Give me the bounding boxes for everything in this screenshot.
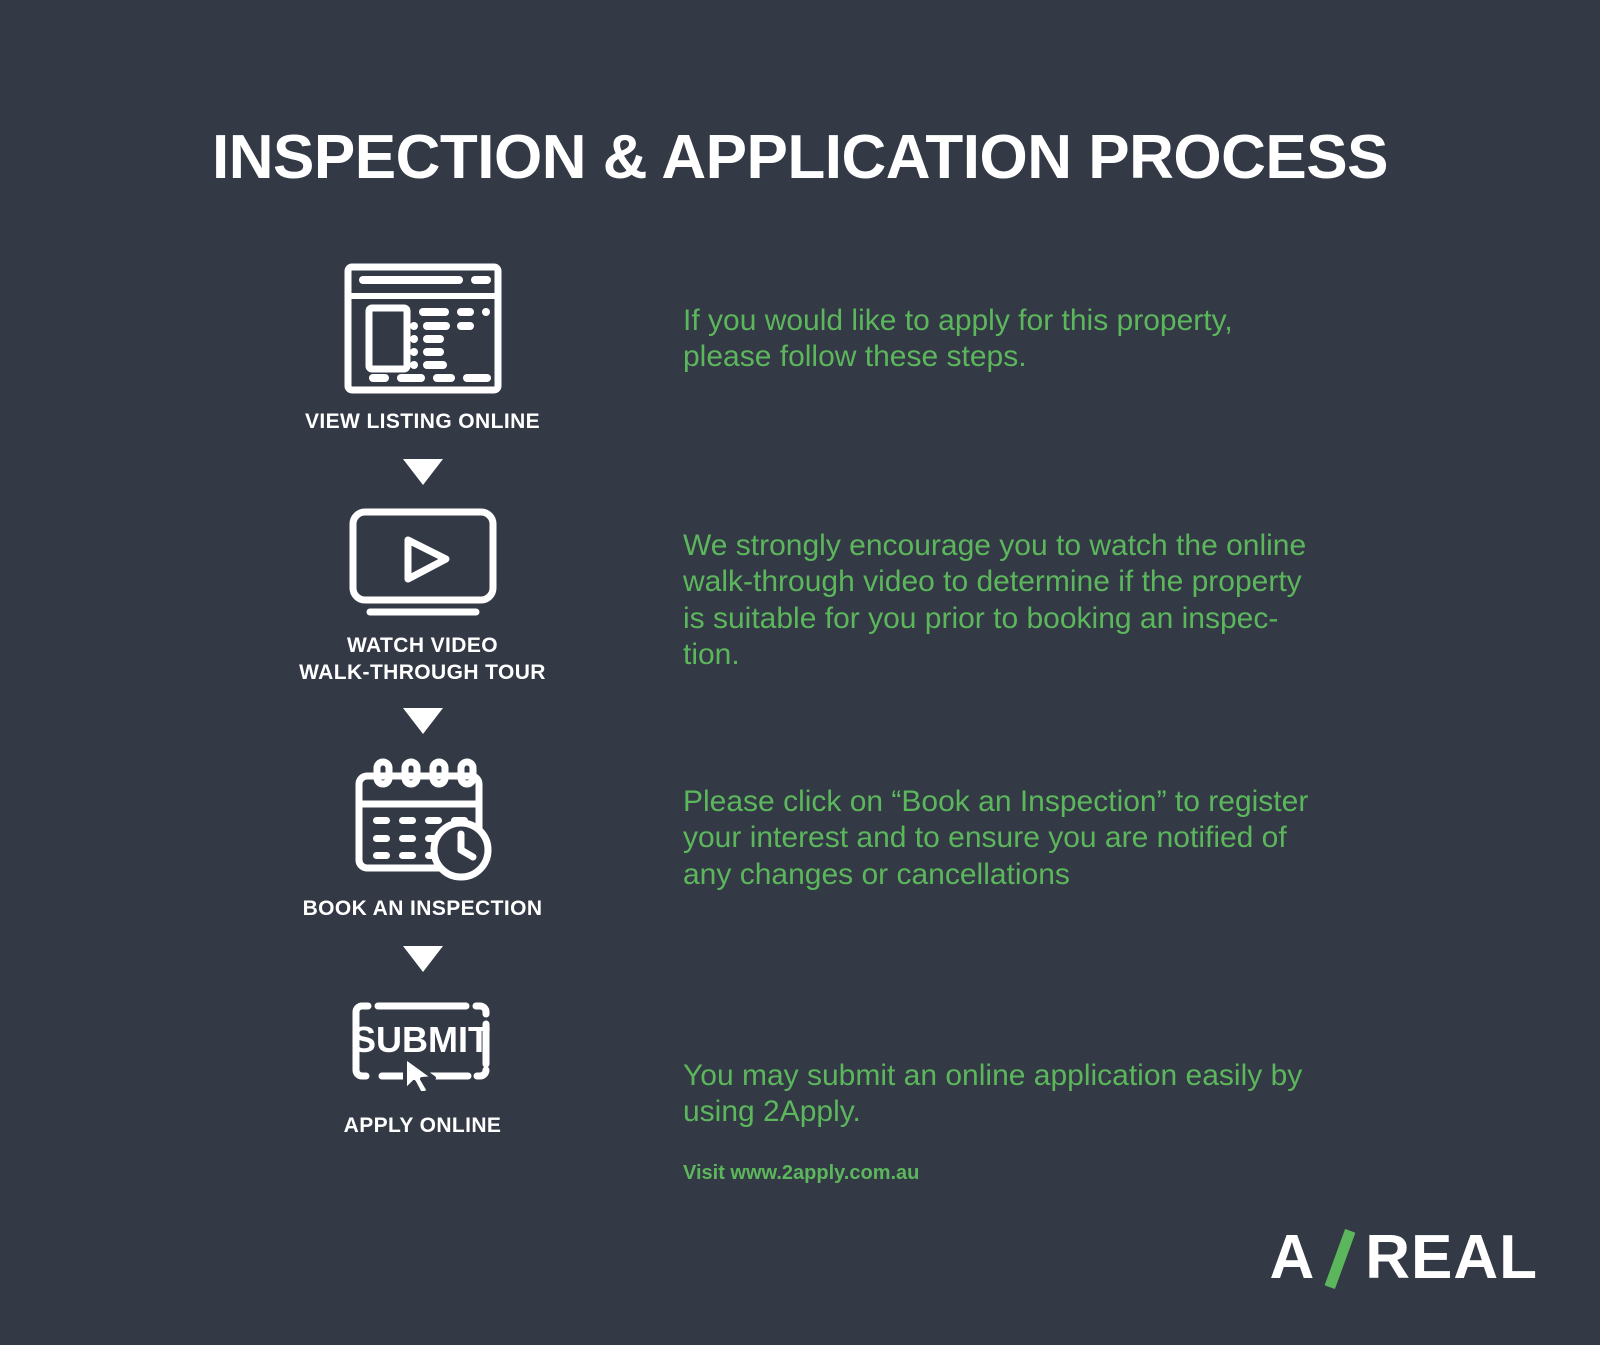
- copy-line: is suitable for you prior to booking an …: [683, 601, 1413, 637]
- submit-button-cursor-icon-wrap: SUBMIT: [250, 996, 595, 1091]
- browser-listing-icon: [343, 262, 503, 395]
- copy-block-apply-intro: If you would like to apply for this prop…: [683, 303, 1413, 376]
- connector-3: [250, 946, 595, 972]
- logo-text-left: A: [1269, 1222, 1315, 1293]
- copy-block-watch-video: We strongly encourage you to watch the o…: [683, 528, 1413, 673]
- step-label-line: WATCH VIDEO: [250, 633, 595, 659]
- step-label-line: APPLY ONLINE: [344, 1114, 502, 1137]
- copy-line: walk-through video to determine if the p…: [683, 564, 1413, 600]
- copy-line: tion.: [683, 637, 1413, 673]
- copy-line: You may submit an online application eas…: [683, 1058, 1413, 1094]
- logo-text-right: REAL: [1365, 1222, 1538, 1293]
- copy-line: your interest and to ensure you are noti…: [683, 820, 1413, 856]
- logo-slash-icon: [1317, 1227, 1363, 1289]
- step-view-listing-online: VIEW LISTING ONLINE: [250, 262, 595, 435]
- submit-icon-text: SUBMIT: [352, 1019, 490, 1060]
- copy-line: using 2Apply.: [683, 1094, 1413, 1130]
- calendar-clock-icon-wrap: [250, 752, 595, 882]
- copy-line: any changes or cancellations: [683, 857, 1413, 893]
- down-triangle-arrow-icon: [403, 459, 443, 485]
- copy-line: We strongly encourage you to watch the o…: [683, 528, 1413, 564]
- infographic-page: INSPECTION & APPLICATION PROCESS: [0, 0, 1600, 1345]
- process-flow-column: VIEW LISTING ONLINE WATCH VIDEO WALK-THR…: [250, 262, 595, 1139]
- calendar-clock-icon: [351, 752, 495, 882]
- step-label-line: BOOK AN INSPECTION: [303, 897, 543, 920]
- copy-block-book-inspection: Please click on “Book an Inspection” to …: [683, 784, 1413, 893]
- page-title: INSPECTION & APPLICATION PROCESS: [0, 122, 1600, 193]
- browser-listing-icon-wrap: [250, 262, 595, 395]
- down-triangle-arrow-icon: [403, 708, 443, 734]
- copy-line: Please click on “Book an Inspection” to …: [683, 784, 1413, 820]
- step-watch-video: WATCH VIDEO WALK-THROUGH TOUR: [250, 507, 595, 686]
- submit-button-cursor-icon: SUBMIT: [348, 996, 498, 1091]
- step-label-apply-online: APPLY ONLINE: [250, 1113, 595, 1139]
- connector-2: [250, 708, 595, 734]
- video-play-monitor-icon: [348, 507, 498, 619]
- step-label-line: WALK-THROUGH TOUR: [250, 660, 595, 686]
- connector-1: [250, 459, 595, 485]
- step-label-watch-video: WATCH VIDEO WALK-THROUGH TOUR: [250, 633, 595, 686]
- copy-line: If you would like to apply for this prop…: [683, 303, 1413, 339]
- step-book-inspection: BOOK AN INSPECTION: [250, 752, 595, 922]
- step-label-view-listing-online: VIEW LISTING ONLINE: [250, 409, 595, 435]
- step-label-line: VIEW LISTING ONLINE: [305, 410, 540, 433]
- brand-logo: A REAL: [1269, 1222, 1538, 1293]
- down-triangle-arrow-icon: [403, 946, 443, 972]
- step-label-book-inspection: BOOK AN INSPECTION: [250, 896, 595, 922]
- video-play-monitor-icon-wrap: [250, 507, 595, 619]
- copy-line: please follow these steps.: [683, 339, 1413, 375]
- step-apply-online: SUBMIT APPLY ONLINE: [250, 996, 595, 1139]
- copy-block-apply-online: You may submit an online application eas…: [683, 1058, 1413, 1131]
- visit-url-line[interactable]: Visit www.2apply.com.au: [683, 1162, 919, 1185]
